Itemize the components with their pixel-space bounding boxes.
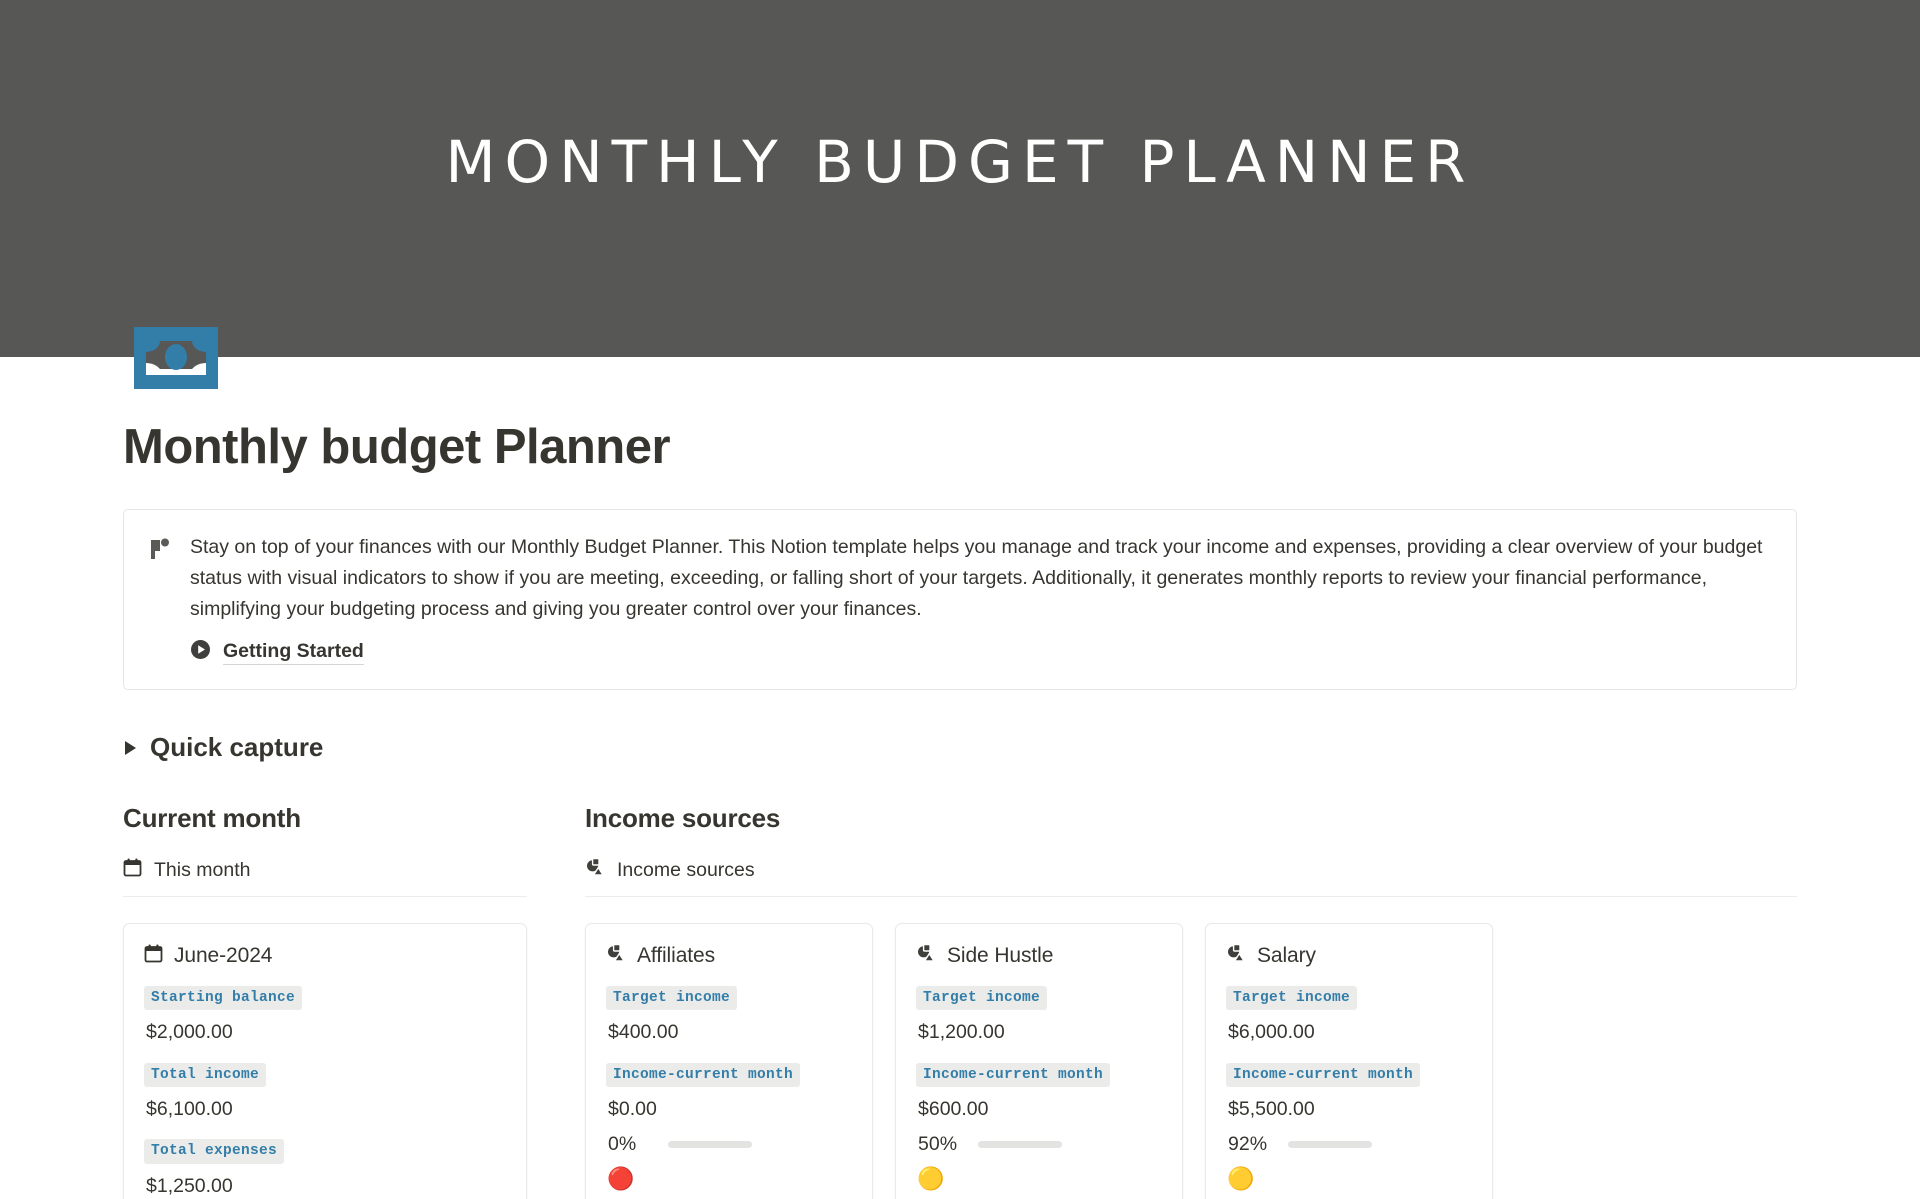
play-circle-icon [190,639,211,665]
income-card-header: Salary [1226,944,1472,968]
quick-capture-toggle[interactable]: Quick capture [123,732,1797,763]
flag-icon [148,532,174,665]
property-value-total-income: $6,100.00 [146,1098,506,1121]
month-card-title: June-2024 [174,944,272,968]
income-sources-view-label: Income sources [617,859,755,882]
income-card-header: Side Hustle [916,944,1162,968]
current-month-view-tab[interactable]: This month [123,858,527,882]
income-card-title: Side Hustle [947,944,1053,968]
progress-row: 50% [918,1133,1162,1156]
status-indicator: 🔴 [607,1168,852,1190]
property-label-target-income: Target income [606,986,737,1010]
calendar-icon [123,858,142,882]
property-value-income-current-month: $5,500.00 [1228,1098,1472,1121]
status-indicator: 🟡 [917,1168,1162,1190]
income-sources-view-tab[interactable]: Income sources [585,858,1797,882]
chevron-right-icon[interactable] [125,741,136,755]
property-label-income-current-month: Income-current month [916,1063,1110,1087]
progress-percent-label: 50% [918,1133,964,1156]
month-card[interactable]: June-2024 Starting balance $2,000.00 Tot… [123,923,527,1199]
callout-block[interactable]: Stay on top of your finances with our Mo… [123,509,1797,690]
gallery-shapes-icon [606,944,626,968]
current-month-heading: Current month [123,803,527,834]
getting-started-row[interactable]: Getting Started [190,639,1770,665]
property-label-income-current-month: Income-current month [1226,1063,1420,1087]
page-cover-banner[interactable]: MONTHLY BUDGET PLANNER [0,0,1920,357]
progress-row: 0% [608,1133,852,1156]
gallery-shapes-icon [585,858,605,882]
columns-container: Current month This month [123,803,1797,1199]
current-month-view-label: This month [154,859,250,882]
property-label-target-income: Target income [916,986,1047,1010]
property-label-income-current-month: Income-current month [606,1063,800,1087]
quick-capture-label: Quick capture [150,732,323,763]
divider [123,896,527,897]
callout-text: Stay on top of your finances with our Mo… [190,532,1770,625]
progress-bar [1288,1141,1372,1148]
calendar-icon [144,944,163,968]
progress-percent-label: 0% [608,1133,654,1156]
property-value-target-income: $6,000.00 [1228,1021,1472,1044]
divider [585,896,1797,897]
income-source-card[interactable]: Salary Target income $6,000.00 Income-cu… [1205,923,1493,1199]
current-month-column: Current month This month [123,803,527,1199]
income-sources-heading: Income sources [585,803,1797,834]
page-content-column: Monthly budget Planner Stay on top of yo… [123,419,1797,1199]
income-source-card[interactable]: Affiliates Target income $400.00 Income-… [585,923,873,1199]
property-value-total-expenses: $1,250.00 [146,1175,506,1198]
income-card-title: Affiliates [637,944,715,968]
progress-percent-label: 92% [1228,1133,1274,1156]
page-title: Monthly budget Planner [123,419,1797,475]
income-sources-card-grid: Affiliates Target income $400.00 Income-… [585,923,1797,1199]
getting-started-link[interactable]: Getting Started [223,640,364,665]
property-label-starting-balance: Starting balance [144,986,302,1010]
page-body: Monthly budget Planner Stay on top of yo… [0,419,1920,1199]
progress-bar [668,1141,752,1148]
property-value-starting-balance: $2,000.00 [146,1021,506,1044]
property-value-income-current-month: $600.00 [918,1098,1162,1121]
cover-title-text: MONTHLY BUDGET PLANNER [0,128,1920,196]
property-value-target-income: $400.00 [608,1021,852,1044]
callout-body: Stay on top of your finances with our Mo… [190,532,1770,665]
money-banknote-icon[interactable] [134,327,218,389]
income-card-header: Affiliates [606,944,852,968]
income-source-card[interactable]: Side Hustle Target income $1,200.00 Inco… [895,923,1183,1199]
gallery-shapes-icon [1226,944,1246,968]
current-month-card-grid: June-2024 Starting balance $2,000.00 Tot… [123,923,527,1199]
income-sources-column: Income sources Income sources [585,803,1797,1199]
progress-row: 92% [1228,1133,1472,1156]
property-value-target-income: $1,200.00 [918,1021,1162,1044]
gallery-shapes-icon [916,944,936,968]
status-indicator: 🟡 [1227,1168,1472,1190]
income-card-title: Salary [1257,944,1316,968]
property-label-total-expenses: Total expenses [144,1139,284,1163]
month-card-header: June-2024 [144,944,506,968]
property-value-income-current-month: $0.00 [608,1098,852,1121]
property-label-target-income: Target income [1226,986,1357,1010]
property-label-total-income: Total income [144,1063,266,1087]
progress-bar [978,1141,1062,1148]
